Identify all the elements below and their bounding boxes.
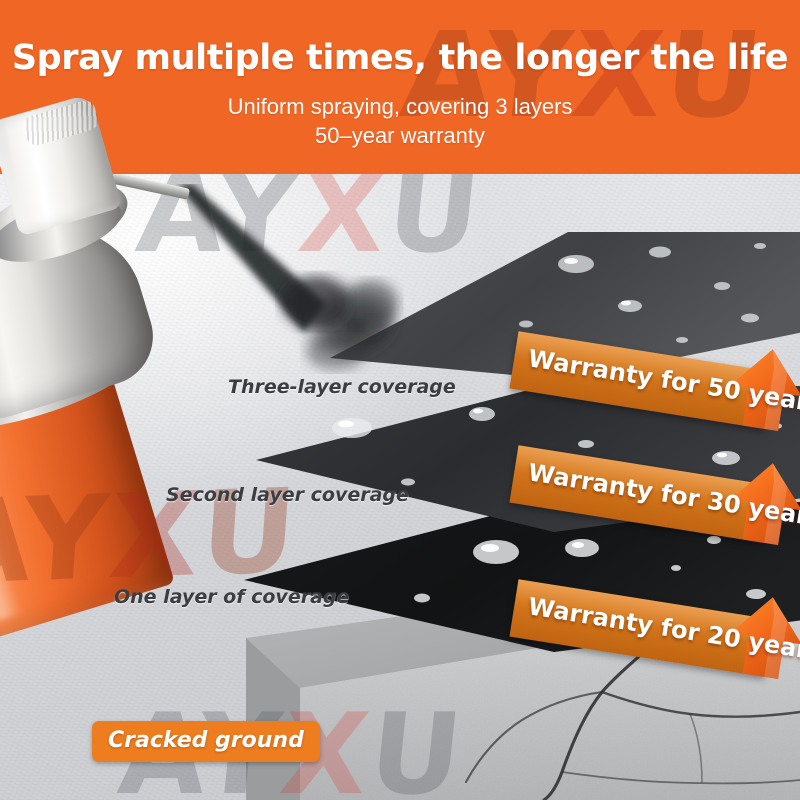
cracked-ground-chip[interactable]: Cracked ground	[92, 721, 320, 762]
callout-one-layer: One layer of coverage	[114, 586, 349, 608]
watermark-letter-y: Y	[18, 470, 114, 608]
callout-second-layer: Second layer coverage	[166, 484, 409, 506]
cracked-ground-label: Cracked ground	[108, 728, 304, 753]
callout-three-layer: Three-layer coverage	[228, 376, 456, 398]
subtitle-line-1: Uniform spraying, covering 3 layers	[0, 92, 800, 121]
subtitle-line-2: 50–year warranty	[0, 121, 800, 150]
page-subtitle: Uniform spraying, covering 3 layers 50–y…	[0, 92, 800, 150]
page-title: Spray multiple times, the longer the lif…	[0, 38, 800, 78]
product-infographic: AYXU AYXU	[0, 0, 800, 800]
watermark-letter-u: U	[363, 690, 470, 800]
